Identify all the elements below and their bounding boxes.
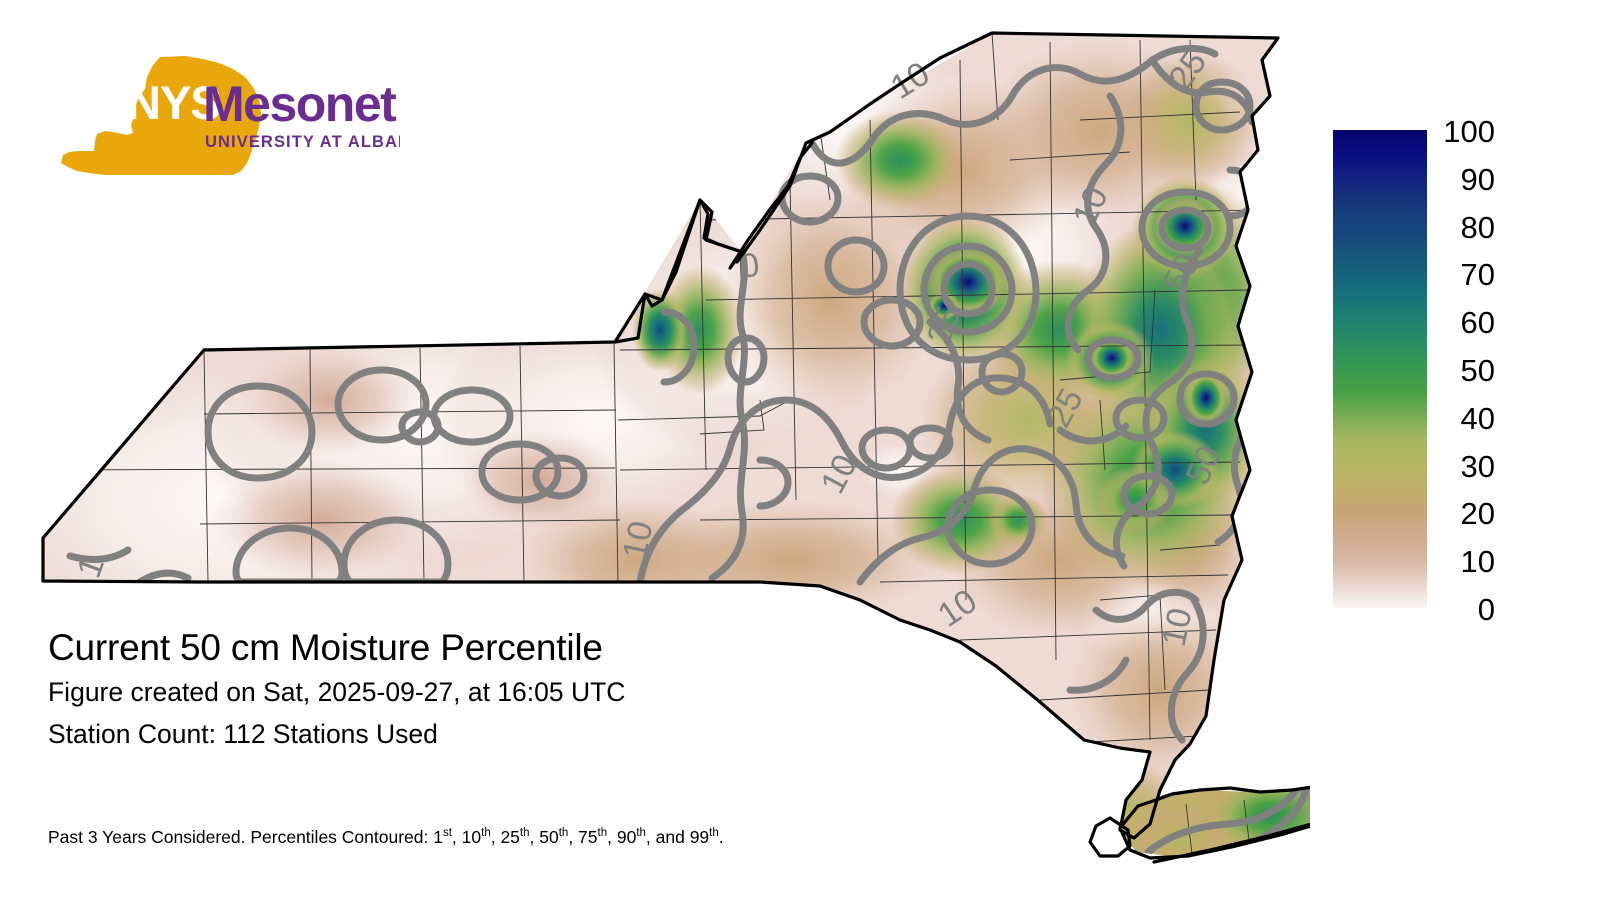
- colorbar-tick: 10: [1437, 546, 1495, 577]
- colorbar-tick: 90: [1437, 164, 1495, 195]
- colorbar-tick: 50: [1437, 355, 1495, 386]
- colorbar-tick: 60: [1437, 307, 1495, 338]
- moisture-percentile-map: 10 25 0 10 25 50 25 50 10 10 1 10 10: [0, 0, 1310, 900]
- colorbar-tick: 30: [1437, 451, 1495, 482]
- caption-block: Current 50 cm Moisture Percentile Figure…: [48, 625, 1008, 755]
- colorbar: [1333, 130, 1427, 608]
- figure-title: Current 50 cm Moisture Percentile: [48, 625, 1008, 671]
- colorbar-tick: 80: [1437, 212, 1495, 243]
- figure-created-line: Figure created on Sat, 2025-09-27, at 16…: [48, 671, 1008, 713]
- colorbar-tick: 70: [1437, 259, 1495, 290]
- note-levels: 1st, 10th, 25th, 50th, 75th, 90th, and 9…: [433, 827, 719, 847]
- colorbar-gradient: [1333, 130, 1427, 608]
- colorbar-tick-labels: 100 90 80 70 60 50 40 30 20 10 0: [1437, 110, 1557, 630]
- colorbar-tick: 100: [1437, 116, 1495, 147]
- contour-levels-note: Past 3 Years Considered. Percentiles Con…: [48, 826, 724, 848]
- colorbar-tick: 20: [1437, 498, 1495, 529]
- station-count-line: Station Count: 112 Stations Used: [48, 713, 1008, 755]
- map-svg: 10 25 0 10 25 50 25 50 10 10 1 10 10: [0, 0, 1310, 900]
- note-prefix: Past 3 Years Considered. Percentiles Con…: [48, 827, 433, 847]
- contour-label: 10: [1155, 605, 1200, 650]
- colorbar-tick: 0: [1437, 594, 1495, 625]
- colorbar-tick: 40: [1437, 403, 1495, 434]
- contour-label: 10: [616, 518, 661, 563]
- note-suffix: .: [719, 827, 724, 847]
